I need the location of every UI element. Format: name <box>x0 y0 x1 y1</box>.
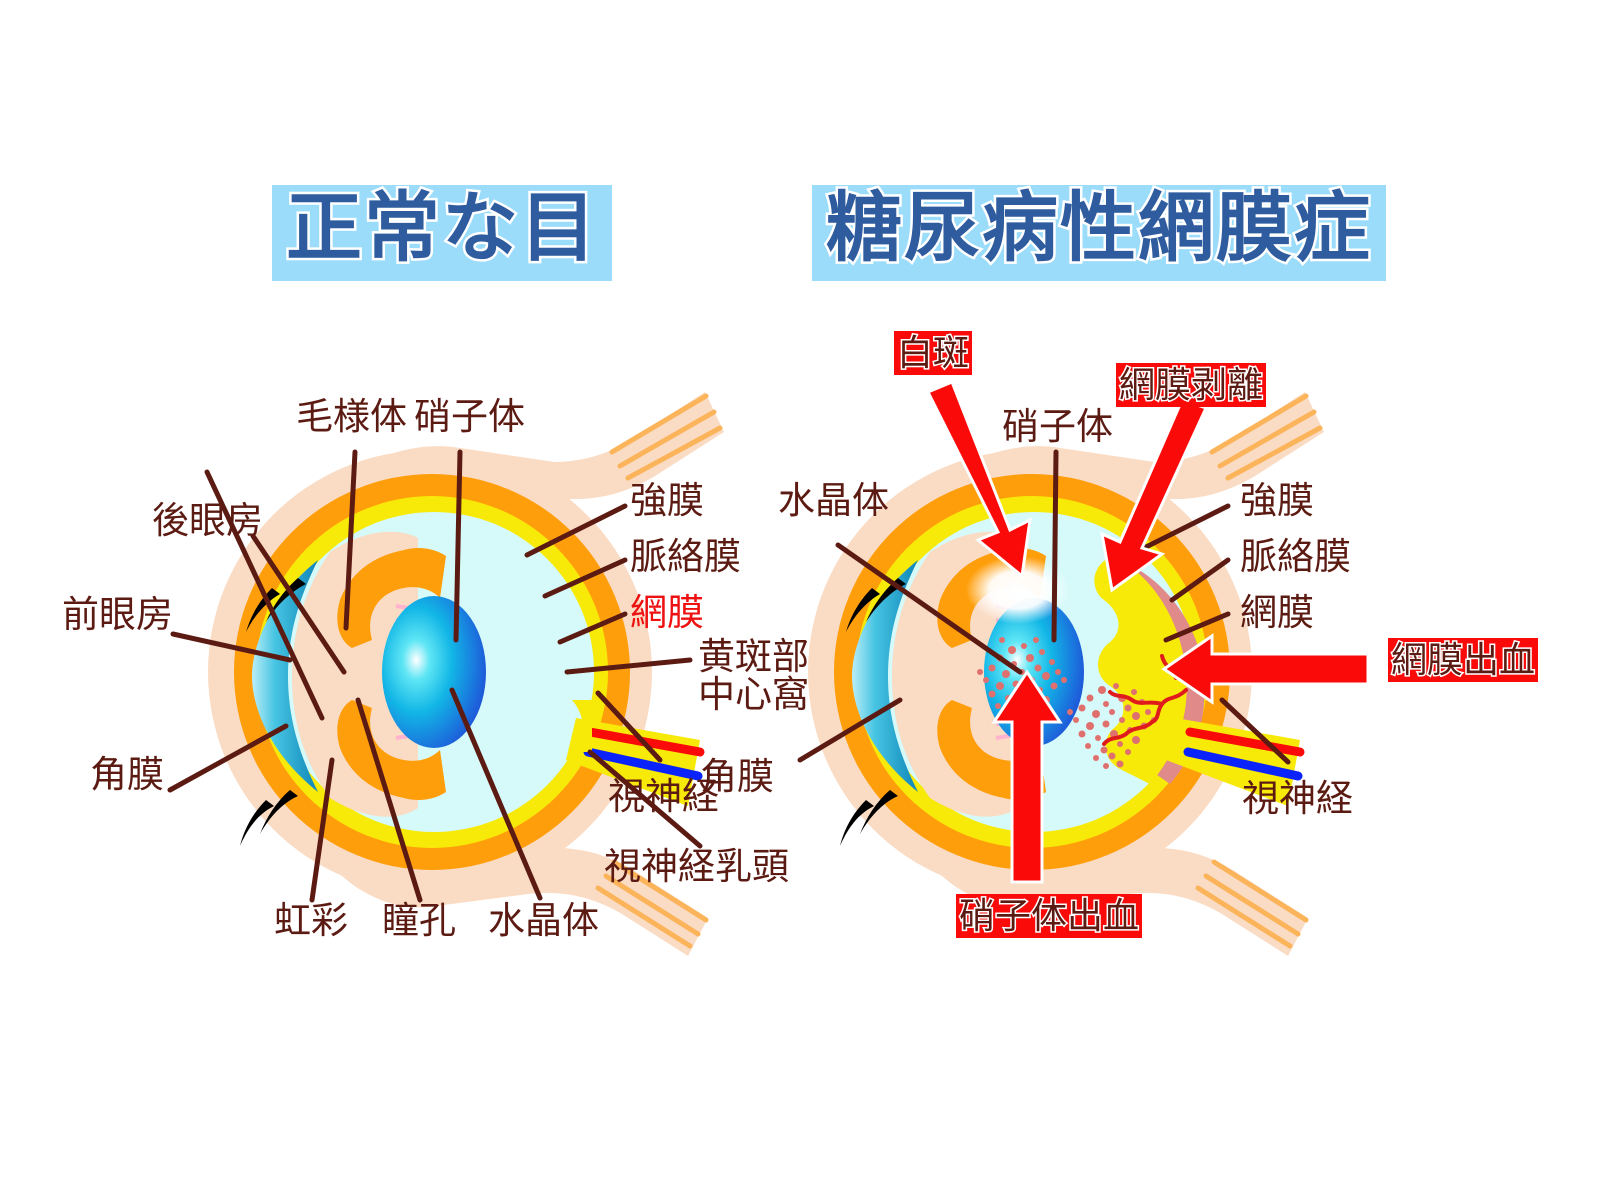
label-vitreous-body: 硝子体 <box>414 396 525 437</box>
diabetic-eye-illustration <box>800 382 1368 956</box>
title-normal-eye-text: 正常な目 <box>286 186 598 271</box>
finding-retinal-detachment: 網膜剥離 <box>1116 363 1266 407</box>
title-diabetic-retinopathy-text: 糖尿病性網膜症 <box>826 186 1372 271</box>
label-lens-left: 水晶体 <box>488 900 599 941</box>
label-iris: 虹彩 <box>274 900 348 941</box>
label-macula-line1: 黄斑部 <box>698 638 809 676</box>
label-optic-disc: 視神経乳頭 <box>604 846 789 887</box>
lens <box>382 596 486 748</box>
label-cornea-left: 角膜 <box>90 754 164 795</box>
title-normal-eye: 正常な目 <box>272 185 612 281</box>
label-choroid-right: 脈絡膜 <box>1240 536 1351 577</box>
label-vitreous-body-right: 硝子体 <box>1002 406 1113 447</box>
label-retina: 網膜 <box>630 592 704 633</box>
label-sclera-right: 強膜 <box>1240 480 1314 521</box>
label-anterior-chamber: 前眼房 <box>62 594 173 635</box>
label-retina-right: 網膜 <box>1240 592 1314 633</box>
label-ciliary-body: 毛様体 <box>296 396 407 437</box>
label-pupil: 瞳孔 <box>382 900 456 941</box>
label-lens-right: 水晶体 <box>778 480 889 521</box>
label-cornea-right: 角膜 <box>700 756 774 797</box>
eye-comparison-diagram: 正常な目 糖尿病性網膜症 毛様体 硝子体 後眼房 前眼房 角膜 強膜 脈絡膜 網… <box>0 0 1600 1200</box>
label-macula-fovea: 黄斑部 中心窩 <box>698 638 809 713</box>
label-posterior-chamber: 後眼房 <box>152 500 263 541</box>
label-choroid: 脈絡膜 <box>630 536 741 577</box>
label-macula-line2: 中心窩 <box>698 676 809 714</box>
finding-hard-exudate: 白斑 <box>894 331 972 375</box>
label-optic-nerve-right: 視神経 <box>1242 778 1353 819</box>
finding-retinal-hemorrhage: 網膜出血 <box>1388 638 1538 682</box>
title-diabetic-retinopathy: 糖尿病性網膜症 <box>812 185 1386 281</box>
label-sclera: 強膜 <box>630 480 704 521</box>
finding-vitreous-hemorrhage: 硝子体出血 <box>956 894 1142 938</box>
diagram-canvas <box>0 0 1600 1200</box>
